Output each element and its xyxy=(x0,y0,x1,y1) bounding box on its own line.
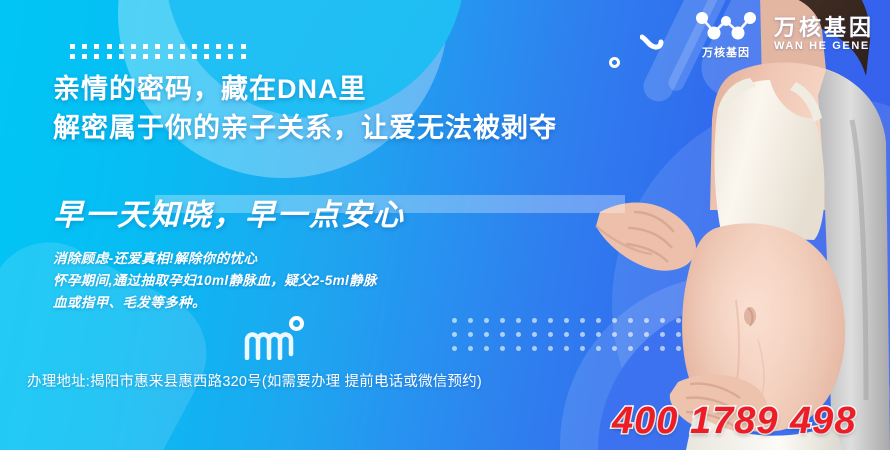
square-dot xyxy=(131,54,136,59)
round-dot xyxy=(548,332,553,337)
round-dot xyxy=(468,332,473,337)
square-dot xyxy=(131,44,136,49)
dna-molecule-icon: 万核基因 xyxy=(690,8,762,60)
round-dot xyxy=(580,332,585,337)
round-dot xyxy=(500,332,505,337)
round-dot xyxy=(596,346,601,351)
square-dot xyxy=(228,54,233,59)
round-dot xyxy=(532,318,537,323)
round-dot xyxy=(500,318,505,323)
round-dot xyxy=(676,332,681,337)
round-dot xyxy=(660,346,665,351)
square-dot xyxy=(192,54,197,59)
pregnant-woman-photo xyxy=(590,0,890,450)
headline-block: 亲情的密码，藏在DNA里 解密属于你的亲子关系，让爱无法被剥夺 xyxy=(53,70,557,148)
square-dot xyxy=(82,44,87,49)
round-dot xyxy=(692,332,697,337)
round-dot xyxy=(660,332,665,337)
round-dot-row xyxy=(452,346,697,351)
square-dot xyxy=(216,54,221,59)
round-dot xyxy=(516,318,521,323)
body-copy-line-3: 血或指甲、毛发等多种。 xyxy=(53,292,377,314)
decorative-blob-right xyxy=(612,95,890,450)
logo-mark-text: 万核基因 xyxy=(690,44,762,60)
round-dot xyxy=(596,332,601,337)
brand-name-cn: 万核基因 xyxy=(774,16,874,39)
round-dot xyxy=(580,318,585,323)
round-dot xyxy=(644,318,649,323)
square-dot xyxy=(204,44,209,49)
round-dot xyxy=(692,318,697,323)
round-dot xyxy=(660,318,665,323)
round-dot xyxy=(676,318,681,323)
round-dot xyxy=(484,318,489,323)
round-dot xyxy=(548,346,553,351)
round-dot xyxy=(644,346,649,351)
square-dot xyxy=(82,54,87,59)
square-dot xyxy=(143,44,148,49)
square-dot xyxy=(119,44,124,49)
square-dot-row xyxy=(70,44,246,49)
round-dot xyxy=(516,346,521,351)
round-dot xyxy=(532,332,537,337)
round-dot xyxy=(628,346,633,351)
square-dot xyxy=(180,44,185,49)
round-dot xyxy=(612,318,617,323)
body-copy-block: 消除顾虑-还爱真相!解除你的忧心 怀孕期间,通过抽取孕妇10ml静脉血，疑父2-… xyxy=(53,248,377,314)
square-dot xyxy=(168,44,173,49)
square-dot xyxy=(216,44,221,49)
square-dot-row xyxy=(70,54,246,59)
promotional-banner: 万核基因 万核基因 WAN HE GENE 亲情的密码，藏在DNA里 解密属于你… xyxy=(0,0,890,450)
round-dot-row xyxy=(452,318,697,323)
round-dot xyxy=(452,346,457,351)
decorative-ring-icon-2 xyxy=(609,57,620,68)
decorative-round-dot-grid xyxy=(452,318,697,351)
square-dot xyxy=(143,54,148,59)
round-dot xyxy=(468,346,473,351)
square-dot xyxy=(94,54,99,59)
body-copy-line-2: 怀孕期间,通过抽取孕妇10ml静脉血，疑父2-5ml静脉 xyxy=(53,270,377,292)
square-dot xyxy=(241,54,246,59)
subheadline-text: 早一天知晓，早一点安心 xyxy=(53,190,405,234)
round-dot xyxy=(500,346,505,351)
round-dot-row xyxy=(452,332,697,337)
brand-name-en: WAN HE GENE xyxy=(774,41,874,53)
round-dot xyxy=(484,332,489,337)
square-dot xyxy=(180,54,185,59)
round-dot xyxy=(692,346,697,351)
address-text: 办理地址:揭阳市惠来县惠西路320号(如需要办理 提前电话或微信预约) xyxy=(27,370,482,391)
square-dot xyxy=(155,44,160,49)
round-dot xyxy=(564,332,569,337)
headline-line-1: 亲情的密码，藏在DNA里 xyxy=(53,70,557,109)
round-dot xyxy=(532,346,537,351)
decorative-square-dot-grid xyxy=(70,44,246,59)
round-dot xyxy=(564,346,569,351)
round-dot xyxy=(452,332,457,337)
subheadline-block: 早一天知晓，早一点安心 xyxy=(53,190,405,234)
brand-logo[interactable]: 万核基因 万核基因 WAN HE GENE xyxy=(690,8,874,60)
round-dot xyxy=(628,318,633,323)
round-dot xyxy=(564,318,569,323)
round-dot xyxy=(676,346,681,351)
round-dot xyxy=(612,346,617,351)
round-dot xyxy=(628,332,633,337)
decorative-wave-icon xyxy=(244,330,304,365)
round-dot xyxy=(596,318,601,323)
square-dot xyxy=(107,54,112,59)
phone-number[interactable]: 400 1789 498 xyxy=(612,400,856,443)
square-dot xyxy=(155,54,160,59)
square-dot xyxy=(94,44,99,49)
square-dot xyxy=(70,54,75,59)
round-dot xyxy=(580,346,585,351)
round-dot xyxy=(548,318,553,323)
square-dot xyxy=(70,44,75,49)
square-dot xyxy=(107,44,112,49)
headline-line-2: 解密属于你的亲子关系，让爱无法被剥夺 xyxy=(53,109,557,148)
square-dot xyxy=(228,44,233,49)
round-dot xyxy=(516,332,521,337)
square-dot xyxy=(168,54,173,59)
square-dot xyxy=(192,44,197,49)
round-dot xyxy=(452,318,457,323)
round-dot xyxy=(612,332,617,337)
square-dot xyxy=(241,44,246,49)
round-dot xyxy=(468,318,473,323)
square-dot xyxy=(204,54,209,59)
brand-wordmark: 万核基因 WAN HE GENE xyxy=(774,16,874,53)
round-dot xyxy=(484,346,489,351)
square-dot xyxy=(119,54,124,59)
decorative-hook-icon xyxy=(640,34,664,59)
decorative-ring-icon-1 xyxy=(289,316,304,331)
body-copy-line-1: 消除顾虑-还爱真相!解除你的忧心 xyxy=(53,248,377,270)
round-dot xyxy=(644,332,649,337)
